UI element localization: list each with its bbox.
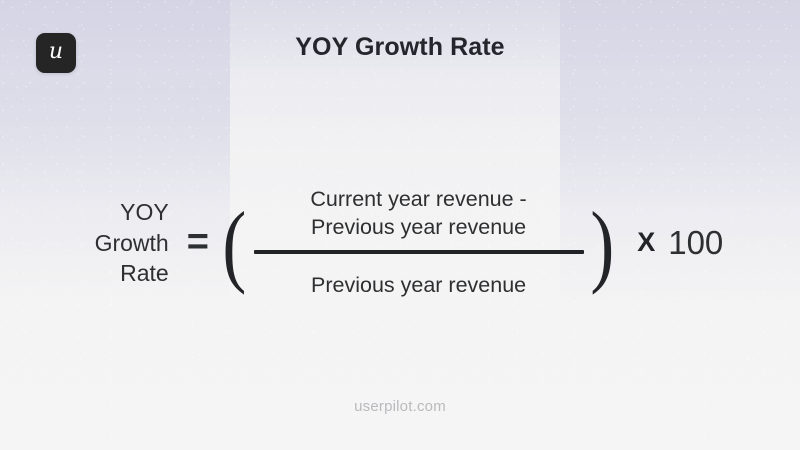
multiply-sign: X — [637, 227, 655, 258]
formula-label-line-3: Rate — [77, 258, 169, 288]
numerator-line-1: Current year revenue - — [310, 186, 526, 214]
formula-block: YOY Growth Rate = ( Current year revenue… — [0, 186, 800, 300]
numerator-line-2: Previous year revenue — [310, 214, 526, 242]
fraction-numerator: Current year revenue - Previous year rev… — [310, 186, 526, 250]
formula-label-line-1: YOY — [77, 197, 169, 227]
slide-canvas: u YOY Growth Rate YOY Growth Rate = ( Cu… — [0, 0, 800, 450]
multiplier-value: 100 — [668, 224, 723, 262]
page-title: YOY Growth Rate — [0, 33, 800, 62]
formula-left-label: YOY Growth Rate — [77, 197, 169, 288]
formula-label-line-2: Growth — [77, 228, 169, 258]
footer-attribution: userpilot.com — [0, 398, 800, 415]
fraction: Current year revenue - Previous year rev… — [254, 186, 584, 300]
background-top-gradient — [0, 0, 800, 150]
fraction-denominator: Previous year revenue — [311, 254, 526, 300]
equals-sign: = — [187, 223, 209, 263]
